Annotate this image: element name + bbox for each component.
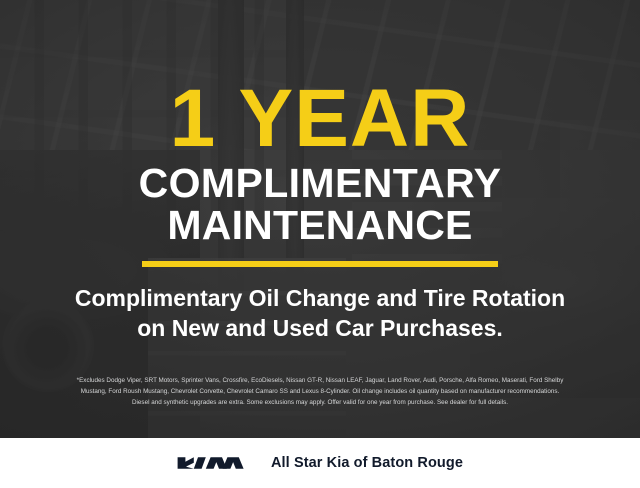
kia-logo-icon <box>177 453 249 473</box>
headline-line-maintenance: MAINTENANCE <box>139 205 502 247</box>
hero-section: 1 YEAR COMPLIMENTARY MAINTENANCE Complim… <box>0 0 640 438</box>
offer-description-line-1: Complimentary Oil Change and Tire Rotati… <box>75 284 565 314</box>
promo-banner: 1 YEAR COMPLIMENTARY MAINTENANCE Complim… <box>0 0 640 488</box>
yellow-divider-bar <box>142 261 498 267</box>
headline-line-complimentary: COMPLIMENTARY <box>139 163 502 205</box>
dealer-name: All Star Kia of Baton Rouge <box>271 455 463 471</box>
headline-subtitle: COMPLIMENTARY MAINTENANCE <box>139 163 502 247</box>
offer-description-line-2: on New and Used Car Purchases. <box>75 314 565 344</box>
offer-description: Complimentary Oil Change and Tire Rotati… <box>75 284 565 344</box>
headline-year: 1 YEAR <box>170 80 471 157</box>
hero-content: 1 YEAR COMPLIMENTARY MAINTENANCE Complim… <box>0 0 640 438</box>
footer-bar: All Star Kia of Baton Rouge <box>0 438 640 488</box>
footer-branding: All Star Kia of Baton Rouge <box>177 453 463 473</box>
